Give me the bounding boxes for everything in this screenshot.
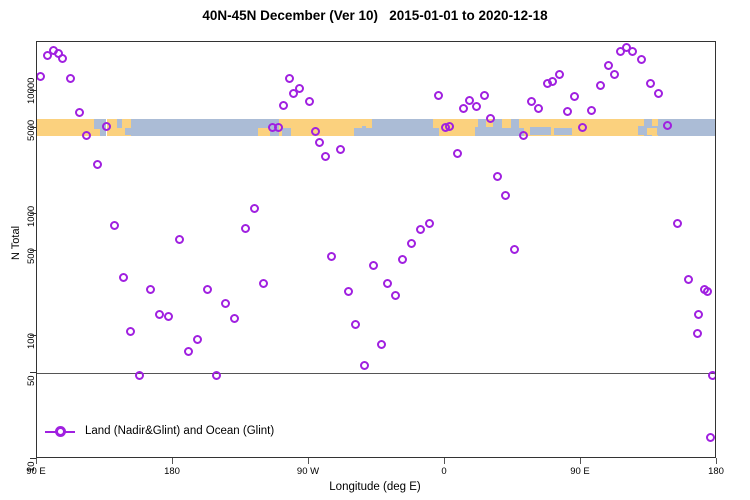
x-tick-label: 90 E: [6, 466, 66, 477]
data-point: [295, 84, 304, 93]
data-point: [221, 299, 230, 308]
data-point: [66, 74, 75, 83]
data-point: [279, 101, 288, 110]
data-point: [315, 138, 324, 147]
data-point: [164, 312, 173, 321]
data-point: [555, 70, 564, 79]
y-axis-title: N Total: [10, 226, 22, 260]
data-point: [193, 335, 202, 344]
data-point: [706, 433, 715, 442]
data-point: [250, 204, 259, 213]
data-point: [684, 275, 693, 284]
data-point: [610, 70, 619, 79]
data-point: [351, 320, 360, 329]
mask-coastline-notch: [354, 128, 378, 137]
data-point: [119, 273, 128, 282]
data-point: [563, 107, 572, 116]
legend-entry-label: Land (Nadir&Glint) and Ocean (Glint): [85, 425, 274, 437]
data-point: [383, 279, 392, 288]
x-tick-mark: [36, 458, 37, 464]
mask-coastline-notch: [282, 128, 291, 137]
x-tick-label: 0: [414, 466, 474, 477]
x-tick-mark: [172, 458, 173, 464]
data-point: [336, 145, 345, 154]
data-point: [416, 225, 425, 234]
data-point: [703, 287, 712, 296]
data-point: [75, 108, 84, 117]
data-point: [637, 55, 646, 64]
x-tick-label: 180: [686, 466, 746, 477]
data-point: [510, 245, 519, 254]
data-point: [425, 219, 434, 228]
data-point: [377, 340, 386, 349]
data-point: [570, 92, 579, 101]
mask-segment-land: [279, 119, 362, 136]
data-point: [212, 371, 221, 380]
data-point: [321, 152, 330, 161]
x-axis-title: Longitude (deg E): [0, 481, 750, 493]
data-point: [434, 91, 443, 100]
data-point: [480, 91, 489, 100]
data-point: [628, 47, 637, 56]
data-point: [327, 252, 336, 261]
mask-coastline-notch: [360, 119, 371, 126]
data-point: [203, 285, 212, 294]
data-point: [654, 89, 663, 98]
data-point: [184, 347, 193, 356]
data-point: [693, 329, 702, 338]
data-point: [486, 114, 495, 123]
data-point: [58, 54, 67, 63]
mask-coastline-notch: [554, 128, 572, 135]
data-point: [146, 285, 155, 294]
data-point: [37, 72, 45, 81]
mask-coastline-notch: [125, 128, 136, 136]
x-tick-mark: [444, 458, 445, 464]
chart-title: 40N-45N December (Ver 10) 2015-01-01 to …: [0, 8, 750, 23]
mask-segment-ocean: [131, 119, 279, 136]
data-point: [391, 291, 400, 300]
x-tick-label: 180: [142, 466, 202, 477]
legend-marker-icon: [55, 426, 66, 437]
mask-coastline-notch: [475, 127, 498, 136]
data-point: [472, 102, 481, 111]
data-point: [587, 106, 596, 115]
data-point: [694, 310, 703, 319]
data-point: [305, 97, 314, 106]
data-point: [398, 255, 407, 264]
data-point: [459, 104, 468, 113]
mask-coastline-notch: [530, 127, 551, 136]
data-point: [663, 121, 672, 130]
data-point: [407, 239, 416, 248]
x-tick-mark: [580, 458, 581, 464]
mask-segment-ocean: [372, 119, 438, 136]
data-point: [175, 235, 184, 244]
data-point: [155, 310, 164, 319]
data-point: [110, 221, 119, 230]
x-tick-label: 90 W: [278, 466, 338, 477]
data-point: [604, 61, 613, 70]
data-point: [311, 127, 320, 136]
data-point: [82, 131, 91, 140]
data-point: [534, 104, 543, 113]
mask-coastline-notch: [113, 128, 122, 137]
data-point: [369, 261, 378, 270]
data-point: [93, 160, 102, 169]
plot-area: Land (Nadir&Glint) and Ocean (Glint): [36, 41, 716, 458]
data-point: [519, 131, 528, 140]
data-point: [126, 327, 135, 336]
data-point: [285, 74, 294, 83]
data-point: [596, 81, 605, 90]
land-ocean-mask-band: [37, 119, 715, 136]
data-point: [259, 279, 268, 288]
mask-coastline-notch: [647, 128, 656, 136]
data-point: [230, 314, 239, 323]
data-point: [453, 149, 462, 158]
data-point: [708, 371, 715, 380]
chart-root: 40N-45N December (Ver 10) 2015-01-01 to …: [0, 0, 750, 500]
data-point: [135, 371, 144, 380]
plot-clip: Land (Nadir&Glint) and Ocean (Glint): [37, 42, 715, 457]
data-point: [360, 361, 369, 370]
x-tick-mark: [716, 458, 717, 464]
data-point: [673, 219, 682, 228]
data-point: [493, 172, 502, 181]
data-point: [241, 224, 250, 233]
data-point: [501, 191, 510, 200]
x-tick-label: 90 E: [550, 466, 610, 477]
x-tick-mark: [308, 458, 309, 464]
data-point: [548, 77, 557, 86]
data-point: [646, 79, 655, 88]
data-point: [344, 287, 353, 296]
